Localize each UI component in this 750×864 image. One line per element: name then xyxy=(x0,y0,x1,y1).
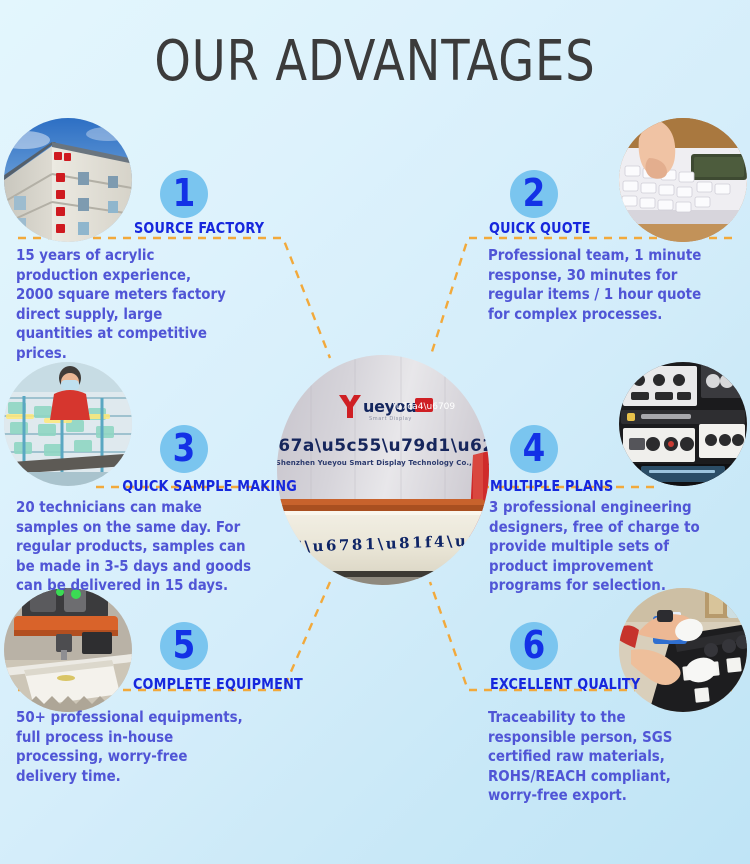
number-badge-3-value: 3 xyxy=(173,429,196,467)
section-body-3: 20 technicians can make samples on the s… xyxy=(16,498,254,596)
section-title-6: EXCELLENT QUALITY xyxy=(490,676,640,693)
section-title-1: SOURCE FACTORY xyxy=(134,220,264,237)
infographic-canvas: OUR ADVANTAGES xyxy=(0,0,750,864)
number-badge-5-value: 5 xyxy=(173,626,196,664)
number-badge-2: 2 xyxy=(510,170,558,218)
number-badge-5: 5 xyxy=(160,622,208,670)
section-body-2: Professional team, 1 minute response, 30… xyxy=(488,246,709,324)
photo-production-line xyxy=(4,362,132,486)
section-title-4: MULTIPLE PLANS xyxy=(490,478,613,495)
photo-factory-building xyxy=(4,118,132,242)
section-body-1: 15 years of acrylic production experienc… xyxy=(16,246,229,363)
number-badge-2-value: 2 xyxy=(523,174,546,212)
number-badge-1-value: 1 xyxy=(173,174,196,212)
section-body-5: 50+ professional equipments, full proces… xyxy=(16,708,246,786)
number-badge-3: 3 xyxy=(160,425,208,473)
photo-display-stands xyxy=(619,362,747,486)
number-badge-6: 6 xyxy=(510,622,558,670)
section-body-4: 3 professional engineering designers, fr… xyxy=(489,498,702,596)
svg-text:\u6df1\u5733\u7ca4\u6709\u667a: \u6df1\u5733\u7ca4\u6709\u667a\u5c55\u79… xyxy=(277,436,489,456)
number-badge-4-value: 4 xyxy=(523,429,546,467)
page-title: OUR ADVANTAGES xyxy=(30,32,720,92)
svg-text:Smart Display: Smart Display xyxy=(369,416,412,422)
photo-cnc-machine xyxy=(4,588,132,712)
section-title-2: QUICK QUOTE xyxy=(489,220,591,237)
number-badge-1: 1 xyxy=(160,170,208,218)
section-body-6: Traceability to the responsible person, … xyxy=(488,708,709,806)
section-title-5: COMPLETE EQUIPMENT xyxy=(133,676,303,693)
photo-quality-inspection xyxy=(619,588,747,712)
section-title-3: QUICK SAMPLE MAKING xyxy=(122,478,297,495)
center-company-photo: ueyou \u7ca4\u6709 Smart Display \u6df1\… xyxy=(277,355,489,585)
svg-text:\u7ca4\u6709: \u7ca4\u6709 xyxy=(393,402,456,412)
photo-calculator xyxy=(619,118,747,242)
svg-text:Shenzhen Yueyou Smart Display: Shenzhen Yueyou Smart Display Technology… xyxy=(277,459,489,467)
number-badge-6-value: 6 xyxy=(523,626,546,664)
number-badge-4: 4 xyxy=(510,425,558,473)
